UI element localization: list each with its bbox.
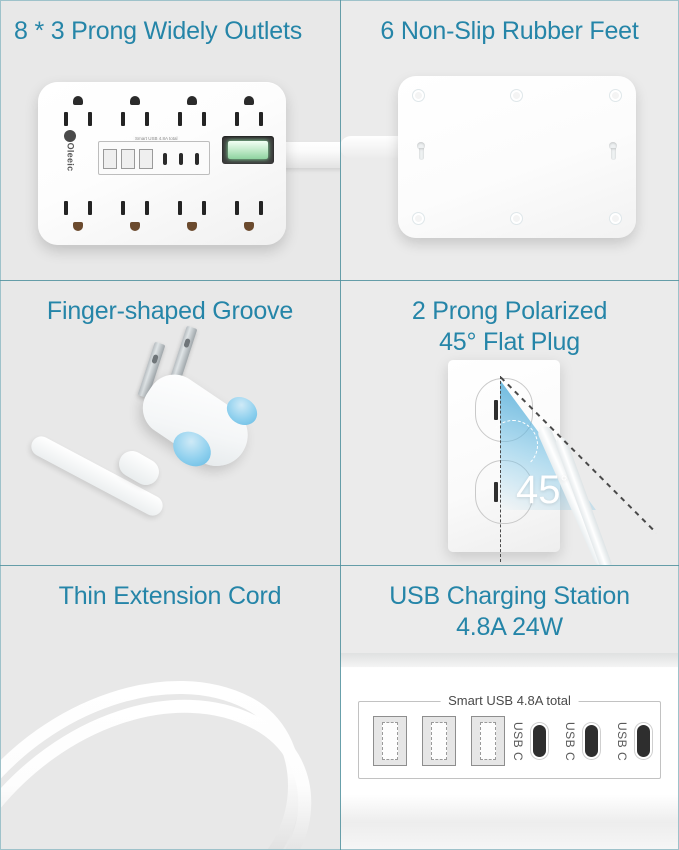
keyhole-slot-icon [419, 148, 424, 160]
station-top-edge [340, 653, 679, 667]
ground-pin-icon [130, 96, 140, 105]
panel-divider-horizontal [340, 280, 679, 281]
outlet-top-4 [223, 96, 275, 140]
switch-rocker-icon [228, 141, 268, 159]
brand-logo: Oleeic [60, 132, 80, 182]
blade-icon [259, 112, 263, 126]
usb-station-illustration: Smart USB 4.8A total USB C USB C USB C [340, 653, 679, 850]
panel-thin-cord: Thin Extension Cord [0, 565, 340, 850]
product-feature-grid: 8 * 3 Prong Widely Outlets [0, 0, 679, 850]
thin-cord-illustration [0, 643, 340, 850]
panel-divider-horizontal [0, 565, 340, 566]
ground-pin-icon [73, 96, 83, 105]
ground-pin-icon [244, 222, 254, 231]
ground-pin-icon [73, 222, 83, 231]
usb-a-port-icon [103, 149, 117, 169]
prong-hole-icon [151, 354, 159, 364]
power-switch[interactable] [222, 136, 274, 164]
usb-c-port-label: USB C [563, 722, 577, 761]
rubber-foot [609, 212, 622, 225]
usb-a-port [471, 716, 505, 766]
socket-slot-icon [494, 482, 498, 502]
usb-c-port-icon [163, 153, 167, 165]
power-strip-underside-illustration [398, 76, 660, 246]
panel-flat-plug: 2 Prong Polarized 45° Flat Plug 45° [340, 280, 679, 565]
usb-c-port-label: USB C [615, 722, 629, 761]
ground-pin-icon [244, 96, 254, 105]
blade-icon [178, 201, 182, 215]
outlet-bottom-3 [166, 187, 218, 231]
blade-icon [178, 112, 182, 126]
panel-divider-horizontal [0, 280, 340, 281]
usb-a-port [373, 716, 407, 766]
panel-title-usb-station: USB Charging Station 4.8A 24W [340, 565, 679, 642]
usb-a-inner-icon [480, 722, 496, 760]
panel-divider-horizontal [340, 565, 679, 566]
blade-icon [121, 112, 125, 126]
blade-icon [64, 112, 68, 126]
usb-c-port [531, 723, 548, 759]
ground-pin-icon [130, 222, 140, 231]
ground-pin-icon [187, 96, 197, 105]
blade-icon [145, 112, 149, 126]
panel-edge-left [0, 0, 1, 280]
panel-title-thin-cord: Thin Extension Cord [0, 565, 340, 612]
wall-mount-keyhole [608, 142, 618, 160]
panel-divider-vertical [340, 565, 341, 850]
blade-icon [235, 112, 239, 126]
ground-pin-icon [187, 222, 197, 231]
panel-title-finger-groove: Finger-shaped Groove [0, 280, 340, 327]
usb-c-port-icon [195, 153, 199, 165]
outlet-bottom-2 [109, 187, 161, 231]
power-strip-body: Oleeic Smart USB 4.8A total [38, 82, 286, 245]
usb-a-inner-icon [382, 722, 398, 760]
power-strip-bottom-body [398, 76, 636, 238]
blade-icon [259, 201, 263, 215]
rubber-foot [412, 89, 425, 102]
panel-title-rubber-feet: 6 Non-Slip Rubber Feet [340, 0, 679, 47]
usb-c-port-label: USB C [511, 722, 525, 761]
panel-prong-outlets: 8 * 3 Prong Widely Outlets [0, 0, 340, 280]
blade-icon [121, 201, 125, 215]
blade-icon [64, 201, 68, 215]
blade-icon [88, 201, 92, 215]
outlet-top-2 [109, 96, 161, 140]
rubber-foot [510, 212, 523, 225]
blade-icon [202, 112, 206, 126]
usb-port-block: Smart USB 4.8A total [98, 141, 210, 175]
panel-finger-groove: Finger-shaped Groove [0, 280, 340, 565]
panel-title-flat-plug: 2 Prong Polarized 45° Flat Plug [340, 280, 679, 357]
power-strip-illustration: Oleeic Smart USB 4.8A total [38, 82, 306, 252]
usb-port-panel: Smart USB 4.8A total USB C USB C USB C [358, 701, 661, 779]
panel-divider-vertical [340, 280, 341, 565]
outlet-top-3 [166, 96, 218, 140]
rubber-foot [510, 89, 523, 102]
rubber-foot [412, 212, 425, 225]
panel-edge-left [0, 280, 1, 565]
panel-divider-vertical [340, 0, 341, 280]
socket-slot-icon [494, 400, 498, 420]
brand-mark-icon [64, 130, 76, 142]
usb-c-port [583, 723, 600, 759]
angle-arc-icon [488, 420, 538, 470]
panel-edge-top [340, 0, 679, 1]
panel-edge-left [0, 565, 1, 850]
usb-c-port [635, 723, 652, 759]
outlet-bottom-4 [223, 187, 275, 231]
blade-icon [88, 112, 92, 126]
blade-icon [145, 201, 149, 215]
usb-c-port-icon [179, 153, 183, 165]
usb-a-port [422, 716, 456, 766]
usb-a-port-icon [121, 149, 135, 169]
usb-a-inner-icon [431, 722, 447, 760]
keyhole-slot-icon [611, 148, 616, 160]
cord-curve-svg [0, 643, 340, 850]
usb-a-port-icon [139, 149, 153, 169]
usb-block-label: Smart USB 4.8A total [133, 136, 180, 141]
blade-icon [202, 201, 206, 215]
panel-title-prong-outlets: 8 * 3 Prong Widely Outlets [0, 0, 340, 47]
panel-rubber-feet: 6 Non-Slip Rubber Feet [340, 0, 679, 280]
prong-hole-icon [183, 338, 191, 348]
panel-usb-station: USB Charging Station 4.8A 24W Smart USB … [340, 565, 679, 850]
angle-label: 45° [516, 468, 568, 513]
vertical-reference-line [500, 376, 501, 562]
rubber-foot [609, 89, 622, 102]
usb-panel-caption: Smart USB 4.8A total [440, 693, 579, 708]
angle-value: 45 [516, 468, 561, 512]
outlet-bottom-1 [52, 187, 104, 231]
blade-icon [235, 201, 239, 215]
degree-symbol: ° [561, 473, 568, 493]
panel-edge-top [0, 0, 340, 1]
wall-mount-keyhole [416, 142, 426, 160]
brand-logo-text: Oleeic [65, 143, 75, 172]
